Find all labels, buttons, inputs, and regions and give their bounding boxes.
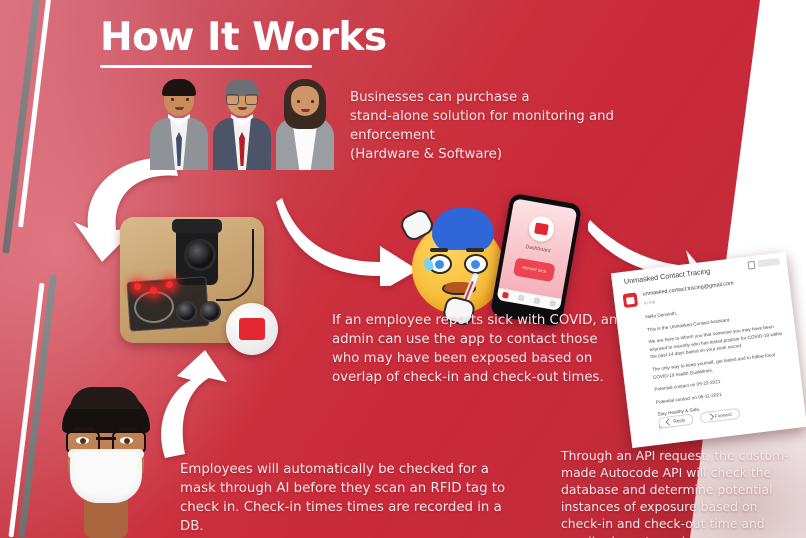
eye-right — [311, 100, 314, 103]
eye-right — [186, 98, 189, 101]
forward-icon — [707, 413, 714, 420]
eye-left — [297, 100, 300, 103]
webcam-clip — [172, 219, 222, 233]
phone-screen: Dashboard REPORT SICK — [496, 198, 577, 311]
phone-bottom-nav[interactable] — [496, 288, 561, 311]
brow-right — [466, 248, 484, 252]
brow-left — [430, 248, 448, 252]
pupil-left — [435, 260, 444, 269]
rfid-card-icon — [626, 296, 635, 304]
infographic-canvas: How It Works — [0, 0, 806, 538]
led-red-2 — [150, 287, 157, 294]
nav-icon-profile[interactable] — [549, 300, 556, 307]
sensor-right — [200, 301, 221, 322]
nav-icon-list[interactable] — [518, 295, 525, 302]
rfid-card-icon — [534, 222, 549, 235]
avatar-businessman-1 — [150, 78, 208, 170]
webcam-lens — [184, 239, 216, 271]
reply-label: Reply — [673, 417, 685, 423]
email-recipient: to me — [643, 299, 655, 305]
text-api-request: Through an API request, the custom-made … — [561, 447, 791, 538]
rfid-card-icon — [239, 318, 265, 340]
text-businesses: Businesses can purchase a stand-alone so… — [350, 89, 700, 165]
inbox-icon — [748, 261, 756, 270]
page-title-block: How It Works — [100, 18, 387, 68]
glasses-icon — [66, 431, 146, 449]
eye-left — [171, 98, 174, 101]
sender-avatar — [623, 292, 639, 308]
avatar-businessman-2 — [213, 78, 271, 170]
business-people-illustration — [150, 78, 334, 170]
title-underline — [100, 65, 312, 68]
email-screenshot-card: Unmasked Contact Tracing unmasked.contac… — [611, 252, 806, 448]
app-dashboard-label: Dashboard — [506, 241, 570, 258]
face-mask-icon — [70, 451, 142, 503]
nav-icon-chart[interactable] — [533, 297, 540, 304]
hair-highlight — [70, 387, 140, 409]
text-mask-checkin: Employees will automatically be checked … — [180, 461, 510, 537]
email-subject: Unmasked Contact Tracing — [623, 266, 710, 285]
inbox-chip — [757, 258, 780, 268]
led-red-3 — [166, 281, 173, 288]
report-sick-button[interactable]: REPORT SICK — [513, 258, 556, 283]
glasses-icon — [226, 94, 258, 103]
nav-icon-home[interactable] — [502, 292, 509, 299]
app-logo-icon — [527, 214, 556, 243]
text-covid-report: If an employee reports sick with COVID, … — [332, 312, 622, 388]
masked-employee-illustration — [44, 385, 168, 538]
pupil-right — [471, 260, 480, 269]
forward-label: Forward — [715, 412, 732, 419]
avatar-businesswoman — [276, 78, 334, 170]
hair — [162, 79, 196, 96]
sensor-left — [176, 301, 197, 322]
eye-right — [464, 254, 488, 274]
rfid-badge-icon — [226, 303, 278, 355]
led-red-1 — [134, 283, 141, 290]
reply-icon — [665, 418, 672, 425]
page-title: How It Works — [100, 18, 387, 57]
